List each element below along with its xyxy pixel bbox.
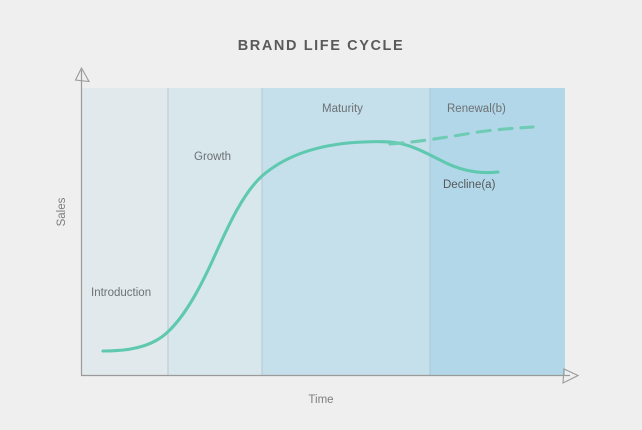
plot-area <box>0 0 642 430</box>
y-axis-arrow-icon <box>76 68 90 82</box>
annotation-decline: Decline(a) <box>443 179 495 191</box>
stage-label-maturity: Maturity <box>322 103 363 115</box>
stage-band-introduction <box>81 88 168 375</box>
stage-label-growth: Growth <box>194 151 231 163</box>
brand-life-cycle-chart: BRAND LIFE CYCLE Sales Time Introduction… <box>0 0 642 430</box>
stage-band-maturity <box>262 88 430 375</box>
stage-band-renewal <box>430 88 565 375</box>
stage-label-introduction: Introduction <box>91 287 151 299</box>
stage-band-growth <box>168 88 262 375</box>
stage-label-renewal: Renewal(b) <box>447 103 506 115</box>
